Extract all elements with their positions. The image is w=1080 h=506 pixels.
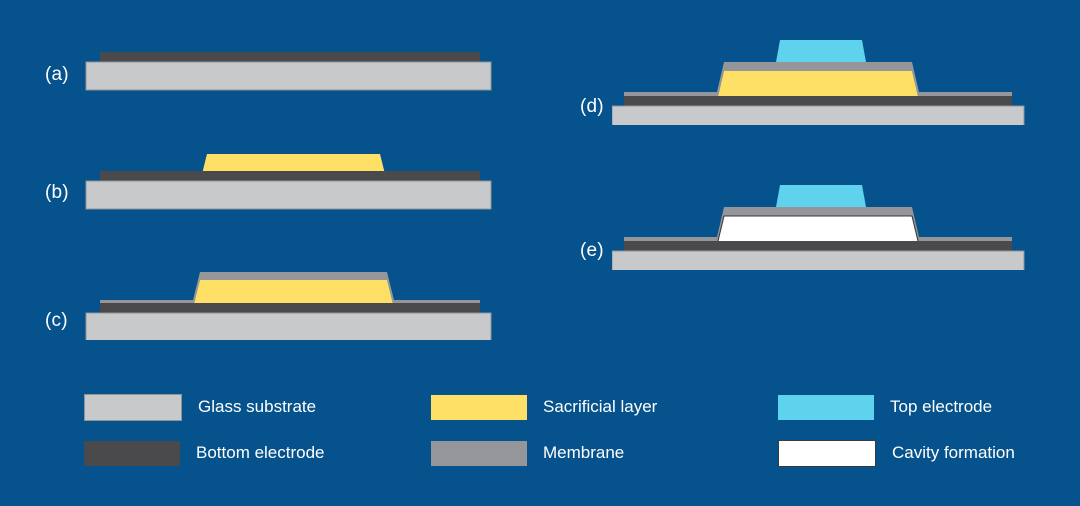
panel-a-stack — [80, 40, 500, 100]
panel-c-stack — [80, 255, 500, 340]
panel-b-stack — [80, 140, 500, 210]
legend-swatch-sacrificial-layer — [431, 395, 527, 420]
glass-substrate-layer — [86, 62, 491, 90]
bottom-electrode-layer — [624, 96, 1012, 107]
legend-swatch-cavity-formation — [778, 440, 876, 467]
glass-substrate-layer — [612, 251, 1024, 270]
glass-substrate-layer — [86, 181, 491, 209]
legend-label-membrane: Membrane — [543, 443, 624, 463]
legend-label-glass-substrate: Glass substrate — [198, 397, 316, 417]
bottom-electrode-layer — [624, 241, 1012, 252]
legend-item-cavity-formation: Cavity formation — [778, 440, 1015, 466]
glass-substrate-layer — [86, 313, 491, 340]
glass-substrate-layer — [612, 106, 1024, 125]
bottom-electrode-layer — [100, 52, 480, 63]
legend-item-top-electrode: Top electrode — [778, 394, 992, 420]
process-flow-figure: (a) (b) (c) (d) (e) — [0, 0, 1080, 506]
top-electrode-trapezoid — [776, 185, 866, 207]
bottom-electrode-layer — [100, 171, 480, 182]
panel-label-a: (a) — [45, 64, 69, 86]
legend-label-cavity-formation: Cavity formation — [892, 443, 1015, 463]
legend-label-top-electrode: Top electrode — [890, 397, 992, 417]
panel-label-e: (e) — [580, 240, 604, 262]
panel-e-stack — [612, 175, 1032, 270]
top-electrode-trapezoid — [776, 40, 866, 62]
legend-item-bottom-electrode: Bottom electrode — [84, 440, 325, 466]
bottom-electrode-layer — [100, 303, 480, 314]
panel-label-b: (b) — [45, 182, 69, 204]
panel-label-d: (d) — [580, 96, 604, 118]
panel-d-stack — [612, 30, 1032, 125]
legend-swatch-top-electrode — [778, 395, 874, 420]
legend-item-sacrificial-layer: Sacrificial layer — [431, 394, 657, 420]
legend: Glass substrate Bottom electrode Sacrifi… — [84, 388, 1034, 478]
cavity-formation-region — [717, 216, 919, 245]
legend-swatch-glass-substrate — [84, 394, 182, 421]
legend-item-glass-substrate: Glass substrate — [84, 394, 316, 420]
panel-label-c: (c) — [45, 310, 68, 332]
legend-label-bottom-electrode: Bottom electrode — [196, 443, 325, 463]
legend-item-membrane: Membrane — [431, 440, 624, 466]
legend-swatch-bottom-electrode — [84, 441, 180, 466]
legend-label-sacrificial-layer: Sacrificial layer — [543, 397, 657, 417]
legend-swatch-membrane — [431, 441, 527, 466]
